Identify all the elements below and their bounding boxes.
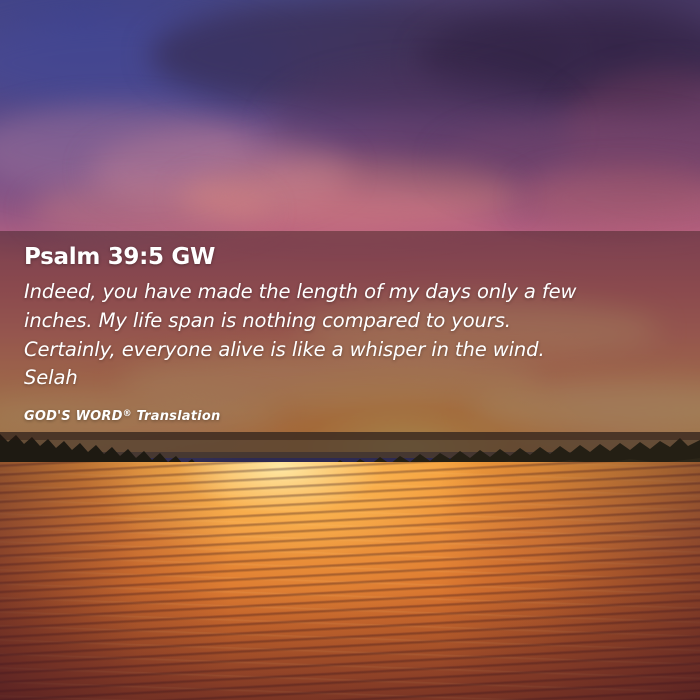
verse-line: Indeed, you have made the length of my d…	[24, 278, 676, 307]
verse-line: Selah	[24, 364, 676, 393]
cloud-streak	[440, 118, 700, 208]
translation-attribution: GOD'S WORD® Translation	[24, 409, 676, 424]
water-shadow-bottom	[0, 590, 700, 700]
cloud-streak	[560, 70, 700, 190]
cloud-streak	[150, 0, 570, 110]
verse-line: inches. My life span is nothing compared…	[24, 307, 676, 336]
registered-trademark-icon: ®	[123, 409, 132, 419]
translation-suffix: Translation	[132, 409, 221, 424]
verse-overlay-panel: Psalm 39:5 GW Indeed, you have made the …	[0, 231, 700, 440]
verse-line: Certainly, everyone alive is like a whis…	[24, 336, 676, 365]
translation-name: GOD'S WORD	[24, 409, 123, 424]
river-water	[0, 462, 700, 700]
verse-body: Indeed, you have made the length of my d…	[24, 278, 676, 393]
cloud-streak	[420, 10, 700, 110]
cloud-streak	[0, 18, 290, 108]
cloud-streak	[180, 160, 520, 230]
cloud-streak	[90, 130, 350, 210]
cloud-streak	[520, 168, 700, 228]
cloud-streak	[30, 182, 270, 238]
cloud-streak	[270, 70, 570, 190]
cloud-streak	[0, 105, 250, 195]
verse-reference: Psalm 39:5 GW	[24, 245, 676, 270]
verse-image-canvas: Psalm 39:5 GW Indeed, you have made the …	[0, 0, 700, 700]
